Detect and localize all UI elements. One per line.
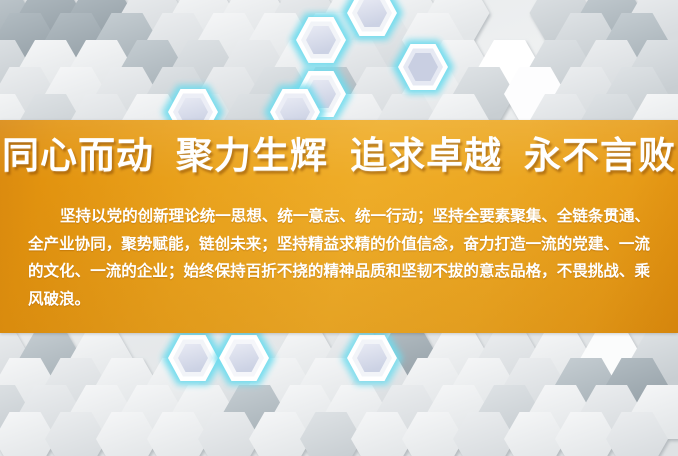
headline-phrase-4: 永不言败 <box>524 135 676 176</box>
poster-canvas: 同心而动聚力生辉追求卓越永不言败 坚持以党的创新理论统一思想、统一意志、统一行动… <box>0 0 678 456</box>
poster-headline: 同心而动聚力生辉追求卓越永不言败 <box>0 132 678 180</box>
headline-phrase-2: 聚力生辉 <box>176 135 328 176</box>
orange-slogan-banner: 同心而动聚力生辉追求卓越永不言败 坚持以党的创新理论统一思想、统一意志、统一行动… <box>0 120 678 333</box>
poster-body-text: 坚持以党的创新理论统一思想、统一意志、统一行动；坚持全要素聚集、全链条贯通、全产… <box>28 203 650 313</box>
headline-phrase-3: 追求卓越 <box>350 135 502 176</box>
headline-phrase-1: 同心而动 <box>2 135 154 176</box>
